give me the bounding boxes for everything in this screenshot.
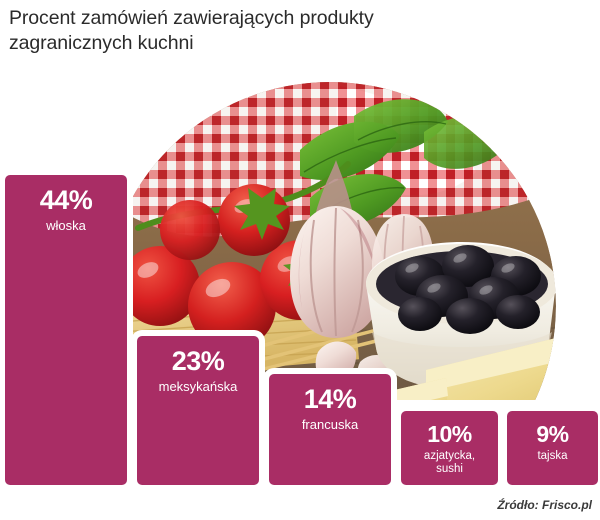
bar-wloska: 44% włoska	[5, 175, 127, 485]
infographic-root: Procent zamówień zawierających produkty …	[0, 0, 600, 520]
bar-label-francuska: francuska	[269, 417, 391, 432]
bar-value-francuska: 14%	[269, 384, 391, 414]
bar-tajska: 9% tajska	[507, 411, 598, 485]
bar-label-tajska: tajska	[507, 450, 598, 463]
bar-value-tajska: 9%	[507, 421, 598, 447]
source-attribution: Źródło: Frisco.pl	[497, 498, 592, 512]
bar-value-azjatycka-sushi: 10%	[401, 421, 498, 447]
bar-value-meksykanska: 23%	[137, 346, 259, 376]
bar-francuska: 14% francuska	[269, 374, 391, 485]
bar-label-wloska: włoska	[5, 218, 127, 233]
page-title: Procent zamówień zawierających produkty …	[9, 6, 509, 56]
bar-label-azjatycka-sushi: azjatycka, sushi	[401, 450, 498, 476]
bar-meksykanska: 23% meksykańska	[137, 336, 259, 485]
bar-label-meksykanska: meksykańska	[137, 379, 259, 394]
bar-azjatycka-sushi: 10% azjatycka, sushi	[401, 411, 498, 485]
bar-value-wloska: 44%	[5, 185, 127, 215]
